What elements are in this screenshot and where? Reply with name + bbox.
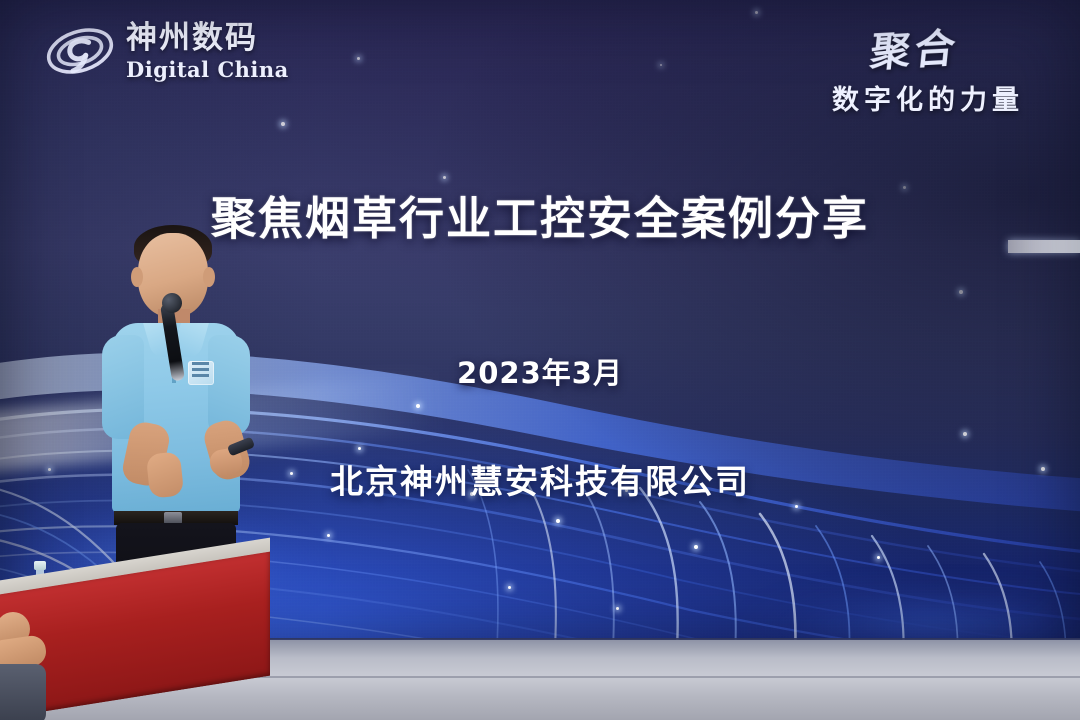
particle: [755, 11, 758, 14]
particle: [963, 432, 967, 436]
presenter-hand-left: [146, 451, 184, 498]
event-logo: 聚合 数字化的力量: [798, 18, 1058, 117]
particle: [416, 404, 420, 408]
particle: [281, 122, 285, 126]
attendee-torso: [0, 664, 46, 720]
particle: [795, 505, 798, 508]
particle: [694, 545, 698, 549]
event-calligraphy: 聚合: [794, 12, 1036, 82]
company-logo-patch-icon: [188, 361, 214, 385]
particle: [358, 447, 361, 450]
presenter-ear-left: [131, 267, 143, 287]
presenter-ear-right: [203, 267, 215, 287]
particle: [327, 534, 330, 537]
particle: [660, 64, 662, 66]
particle: [877, 556, 880, 559]
digital-china-swirl-icon: [44, 18, 116, 84]
brand-name-en: Digital China: [126, 59, 289, 80]
digital-china-logo: 神州数码 Digital China: [44, 18, 289, 84]
bottle-cap: [34, 561, 46, 570]
event-tagline: 数字化的力量: [798, 78, 1058, 117]
particle: [959, 290, 963, 294]
particle: [508, 586, 511, 589]
conference-photo: 神州数码 Digital China 聚合 数字化的力量 聚焦烟草行业工控安全案…: [0, 0, 1080, 720]
digital-china-wordmark: 神州数码 Digital China: [126, 23, 289, 80]
screen-accent-bar: [1008, 240, 1080, 253]
seated-attendee: [0, 612, 50, 720]
brand-name-cn: 神州数码: [126, 23, 289, 54]
particle: [556, 519, 560, 523]
particle: [616, 607, 619, 610]
particle: [357, 57, 360, 60]
particle: [443, 176, 446, 179]
